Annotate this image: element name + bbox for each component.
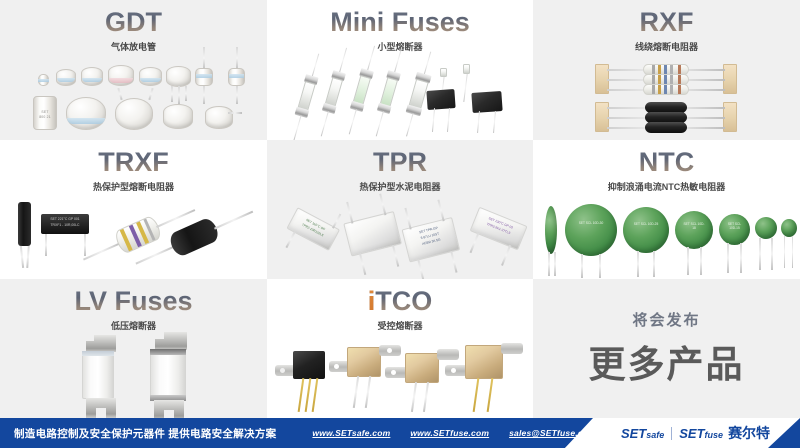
brand-setfuse-suffix: fuse <box>705 430 724 440</box>
brand-divider <box>671 427 672 440</box>
gdt-label-1: SET <box>33 110 57 114</box>
footer-link-setfuse[interactable]: www.SETfuse.com <box>410 428 489 438</box>
product-title-itco-rest: TCO <box>375 286 432 316</box>
product-card-mini-fuses[interactable]: Mini Fuses 小型熔断器 <box>267 0 533 140</box>
brand-setsafe: SETsafe <box>621 425 664 443</box>
product-card-tpr[interactable]: TPR 热保护型水泥电阻器 SET 110°C GP TPR2-10RJ22LS <box>267 140 533 279</box>
footer-brand-area: SETsafe SETfuse 赛尔特 <box>565 418 800 448</box>
coming-soon-card: 将会发布 更多产品 <box>533 279 800 418</box>
product-image-rxf <box>533 52 800 138</box>
brand-setsafe-main: SET <box>621 426 646 441</box>
product-title-itco: iTCO <box>267 286 533 317</box>
product-grid: GDT 气体放电管 <box>0 0 800 418</box>
product-card-trxf[interactable]: TRXF 热保护型熔断电阻器 SET 221°C GP 001 TRXF1 - … <box>0 140 267 279</box>
brand-setsafe-suffix: safe <box>646 430 664 440</box>
product-title-tpr: TPR <box>267 147 533 178</box>
brand-chinese-name: 赛尔特 <box>728 423 770 443</box>
product-image-mini-fuses <box>267 52 533 138</box>
coming-soon-small-text: 将会发布 <box>632 309 700 330</box>
product-title-ntc: NTC <box>533 147 800 178</box>
footer-slogan: 制造电路控制及安全保护元器件 提供电路安全解决方案 <box>14 426 276 441</box>
ntc-label-3: SET SCL 10D-18 <box>683 223 705 230</box>
trxf-label-2: TRXF1 - 10R,00LC <box>44 223 86 227</box>
product-image-itco <box>267 331 533 416</box>
footer-link-setsafe[interactable]: www.SETsafe.com <box>312 428 390 438</box>
trxf-label-1: SET 221°C GP 001 <box>44 217 86 221</box>
product-catalog-page: GDT 气体放电管 <box>0 0 800 448</box>
product-title-gdt: GDT <box>0 7 267 38</box>
ntc-label-1: SET SCL 10D-30 <box>577 222 605 226</box>
footer-bar: 制造电路控制及安全保护元器件 提供电路安全解决方案 www.SETsafe.co… <box>0 418 800 448</box>
footer-links: www.SETsafe.com www.SETfuse.com sales@SE… <box>312 428 596 438</box>
product-image-gdt: SET 800 21 <box>0 52 267 138</box>
ntc-label-4: SET SCL 10D-15 <box>725 223 744 230</box>
coming-soon-big-text: 更多产品 <box>589 334 745 388</box>
gdt-label-2: 800 21 <box>33 115 57 119</box>
product-image-ntc: SET SCL 10D-30 SET SCL 10D-25 SET SCL 10… <box>533 192 800 277</box>
product-image-tpr: SET 110°C GP TPR2-10RJ22LS SET TPR-G <box>267 192 533 277</box>
product-title-mini-fuses: Mini Fuses <box>267 7 533 38</box>
ntc-label-2: SET SCL 10D-25 <box>633 223 659 227</box>
product-title-lv-fuses: LV Fuses <box>0 286 267 317</box>
product-title-rxf: RXF <box>533 7 800 38</box>
product-image-lv-fuses <box>0 331 267 416</box>
product-image-trxf: SET 221°C GP 001 TRXF1 - 10R,00LC <box>0 192 267 277</box>
brand-setfuse: SETfuse <box>679 425 723 443</box>
product-title-trxf: TRXF <box>0 147 267 178</box>
product-card-lv-fuses[interactable]: LV Fuses 低压熔断器 <box>0 279 267 418</box>
product-card-rxf[interactable]: RXF 线绕熔断电阻器 <box>533 0 800 140</box>
product-card-gdt[interactable]: GDT 气体放电管 <box>0 0 267 140</box>
product-card-ntc[interactable]: NTC 抑制浪涌电流NTC热敏电阻器 SET SCL 10D-30 SET SC… <box>533 140 800 279</box>
brand-setfuse-main: SET <box>679 426 704 441</box>
product-card-itco[interactable]: iTCO 受控熔断器 <box>267 279 533 418</box>
